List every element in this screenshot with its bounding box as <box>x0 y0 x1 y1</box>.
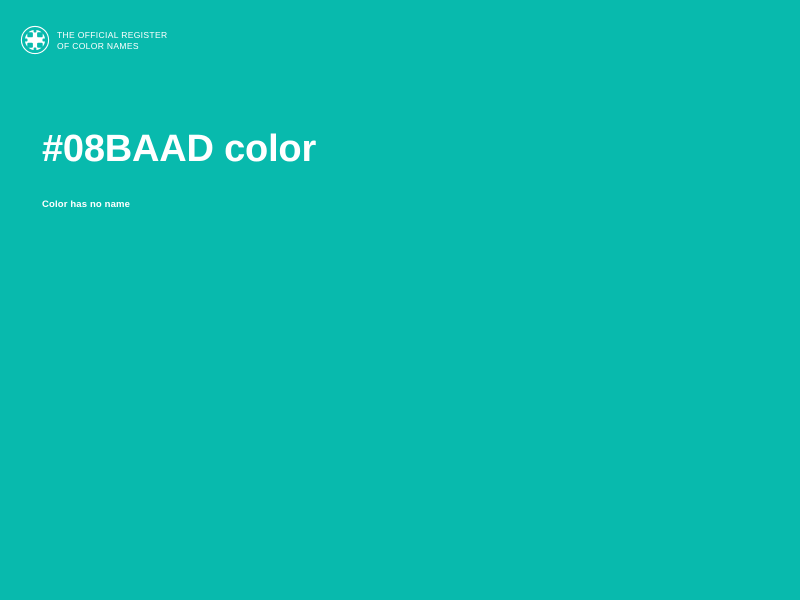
page-title: #08BAAD color <box>42 126 742 172</box>
register-seal-icon <box>20 25 50 55</box>
brand-line-2: OF COLOR NAMES <box>57 41 167 52</box>
brand-wordmark: THE OFFICIAL REGISTER OF COLOR NAMES <box>57 29 167 51</box>
brand-logo[interactable]: THE OFFICIAL REGISTER OF COLOR NAMES <box>20 25 167 55</box>
color-info-block: #08BAAD color Color has no name <box>42 126 742 211</box>
color-page: THE OFFICIAL REGISTER OF COLOR NAMES #08… <box>0 0 800 600</box>
brand-line-1: THE OFFICIAL REGISTER <box>57 30 167 41</box>
color-name-status: Color has no name <box>42 172 742 211</box>
